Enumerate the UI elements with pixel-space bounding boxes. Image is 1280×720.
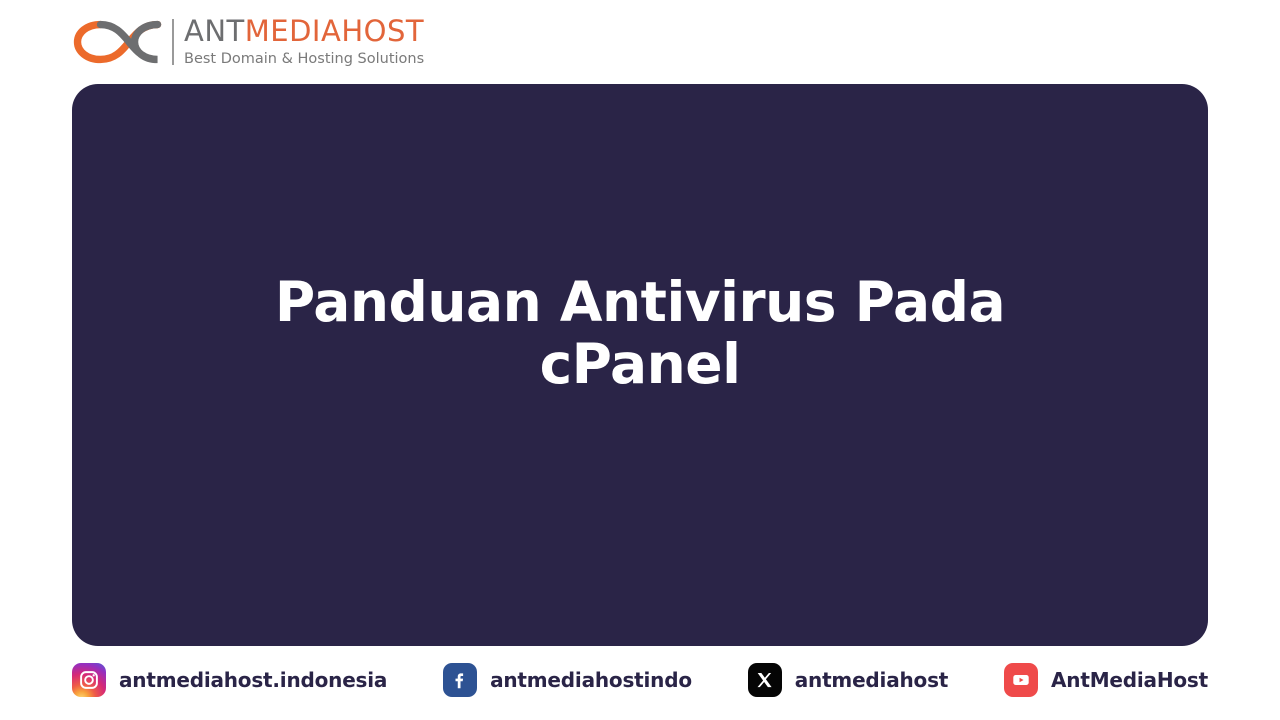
slide-canvas: ANTMEDIAHOST Best Domain & Hosting Solut… bbox=[0, 0, 1280, 720]
social-bar: antmediahost.indonesia antmediahostindo … bbox=[72, 658, 1208, 702]
instagram-icon bbox=[72, 663, 106, 697]
hero-card: Panduan Antivirus Pada cPanel bbox=[72, 84, 1208, 646]
social-item-facebook[interactable]: antmediahostindo bbox=[443, 658, 692, 702]
logo-divider bbox=[172, 19, 174, 65]
facebook-icon bbox=[443, 663, 477, 697]
x-twitter-icon bbox=[748, 663, 782, 697]
youtube-icon bbox=[1004, 663, 1038, 697]
brand-wordmark: ANTMEDIAHOST bbox=[184, 17, 424, 46]
wordmark-ant: ANT bbox=[184, 14, 245, 48]
social-handle-instagram: antmediahost.indonesia bbox=[119, 668, 387, 692]
brand-tagline: Best Domain & Hosting Solutions bbox=[184, 52, 424, 67]
page-title: Panduan Antivirus Pada cPanel bbox=[260, 272, 1020, 395]
social-handle-x-twitter: antmediahost bbox=[795, 668, 948, 692]
wordmark-host: HOST bbox=[341, 14, 424, 48]
antmediahost-infinity-logo-icon bbox=[72, 16, 164, 68]
wordmark-media: MEDIA bbox=[245, 14, 342, 48]
social-item-youtube[interactable]: AntMediaHost bbox=[1004, 658, 1208, 702]
social-handle-facebook: antmediahostindo bbox=[490, 668, 692, 692]
brand-header: ANTMEDIAHOST Best Domain & Hosting Solut… bbox=[72, 12, 424, 72]
brand-text-block: ANTMEDIAHOST Best Domain & Hosting Solut… bbox=[184, 17, 424, 67]
social-item-instagram[interactable]: antmediahost.indonesia bbox=[72, 658, 387, 702]
social-handle-youtube: AntMediaHost bbox=[1051, 668, 1208, 692]
social-item-x-twitter[interactable]: antmediahost bbox=[748, 658, 948, 702]
